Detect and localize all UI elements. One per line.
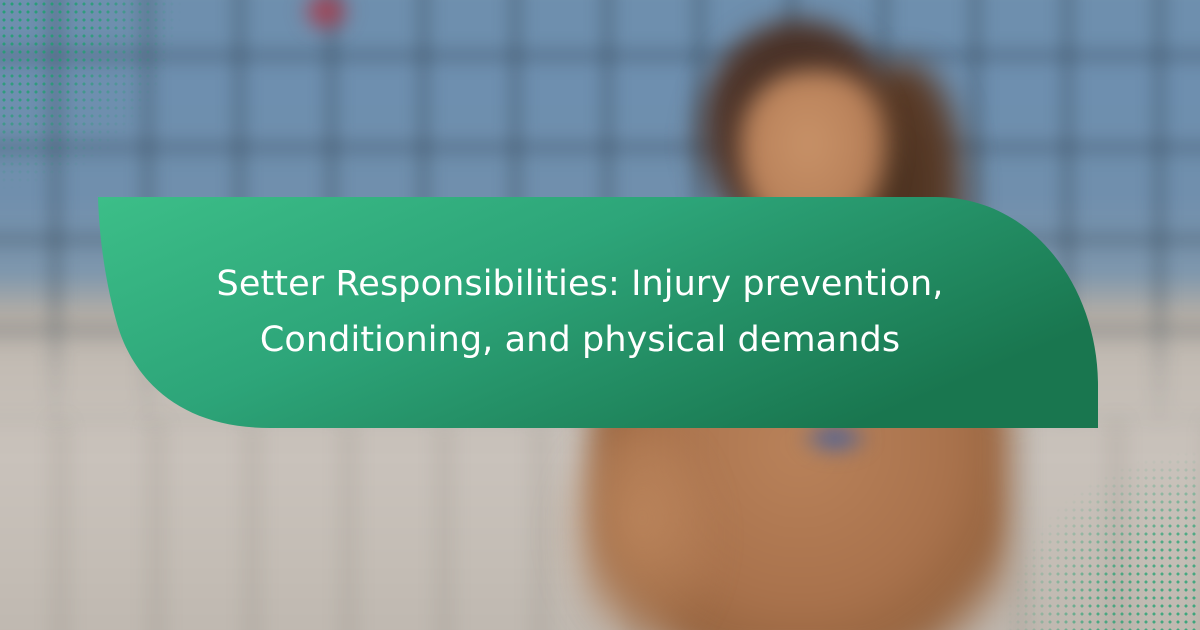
banner-title-line-2: Conditioning, and physical demands xyxy=(260,320,900,361)
share-card: Setter Responsibilities: Injury preventi… xyxy=(0,0,1200,630)
banner-title: Setter Responsibilities: Injury preventi… xyxy=(150,197,1010,428)
banner-title-line-1: Setter Responsibilities: Injury preventi… xyxy=(217,264,944,305)
